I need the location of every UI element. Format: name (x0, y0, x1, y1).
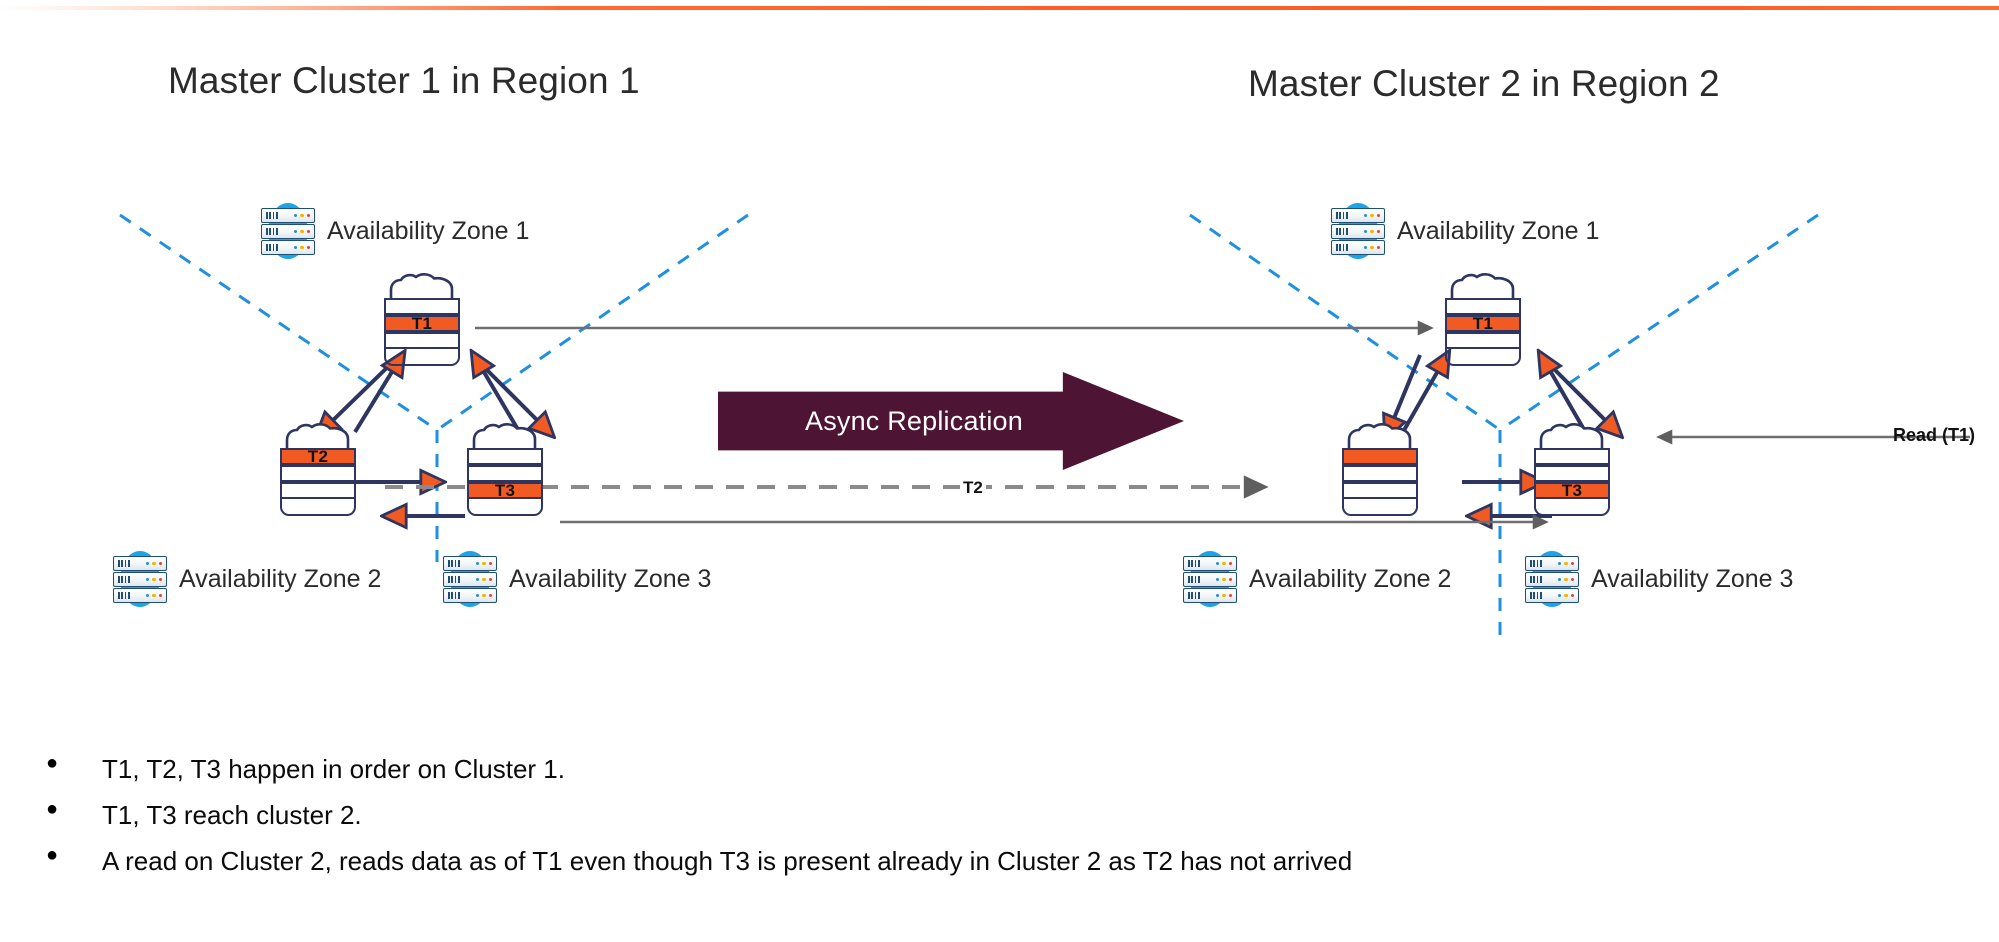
az-boundary-left (120, 215, 748, 562)
az-label-text: Availability Zone 3 (509, 565, 711, 594)
server-rack-icon (258, 203, 318, 259)
cluster-title-right: Master Cluster 2 in Region 2 (1248, 63, 1720, 105)
database-label: T2 (280, 448, 356, 465)
database-right-az2[interactable] (1340, 422, 1420, 518)
server-rack-icon (1522, 551, 1582, 607)
database-label: T3 (1534, 482, 1610, 499)
slide-canvas: Master Cluster 1 in Region 1 Master Clus… (0, 0, 1999, 942)
az-label-text: Availability Zone 3 (1591, 565, 1793, 594)
server-rack-icon (440, 551, 500, 607)
list-item: T1, T2, T3 happen in order on Cluster 1. (36, 753, 1536, 786)
database-label: T1 (384, 315, 460, 332)
database-label (1342, 448, 1418, 465)
database-label: T1 (1445, 315, 1521, 332)
async-replication-label: Async Replication (718, 372, 1110, 470)
az-label-text: Availability Zone 1 (327, 217, 529, 246)
database-left-az2[interactable]: T2 (278, 422, 358, 518)
summary-bullet-list: T1, T2, T3 happen in order on Cluster 1.… (36, 753, 1536, 890)
database-right-az3[interactable]: T3 (1532, 422, 1612, 518)
database-left-az1[interactable]: T1 (382, 272, 462, 368)
az-label-left-2: Availability Zone 2 (110, 551, 381, 607)
server-rack-icon (1328, 203, 1388, 259)
cluster-title-left: Master Cluster 1 in Region 1 (168, 60, 640, 102)
cross-region-wires (475, 328, 1970, 522)
az-label-left-1: Availability Zone 1 (258, 203, 529, 259)
list-item: T1, T3 reach cluster 2. (36, 799, 1536, 832)
database-label: T3 (467, 482, 543, 499)
az-label-right-1: Availability Zone 1 (1328, 203, 1599, 259)
async-replication-banner: Async Replication (718, 372, 1184, 470)
az-label-left-3: Availability Zone 3 (440, 551, 711, 607)
list-item: A read on Cluster 2, reads data as of T1… (36, 845, 1536, 878)
az-label-right-2: Availability Zone 2 (1180, 551, 1451, 607)
az-label-right-3: Availability Zone 3 (1522, 551, 1793, 607)
top-accent-rule (0, 6, 1999, 10)
server-rack-icon (1180, 551, 1240, 607)
database-right-az1[interactable]: T1 (1443, 272, 1523, 368)
t2-transaction-label: T2 (960, 478, 986, 498)
read-request-label: Read (T1) (1893, 425, 1975, 446)
az-label-text: Availability Zone 2 (1249, 565, 1451, 594)
az-label-text: Availability Zone 1 (1397, 217, 1599, 246)
database-left-az3[interactable]: T3 (465, 422, 545, 518)
server-rack-icon (110, 551, 170, 607)
az-label-text: Availability Zone 2 (179, 565, 381, 594)
